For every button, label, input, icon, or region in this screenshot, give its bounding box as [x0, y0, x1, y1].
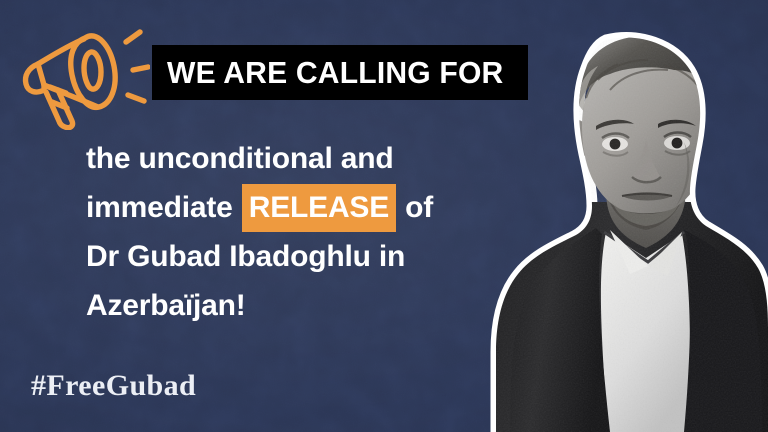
portrait-gubad-ibadoghlu [478, 22, 768, 432]
body-line-2-before: immediate [86, 191, 233, 224]
body-line-2: immediate RELEASE of [86, 183, 486, 232]
body-line-4-text: Azerbaïjan! [86, 289, 246, 322]
body-copy: the unconditional and immediate RELEASE … [86, 134, 486, 330]
portrait-photo [478, 22, 768, 432]
hashtag-free-gubad: #FreeGubad [31, 371, 196, 401]
release-highlight: RELEASE [242, 184, 396, 232]
body-line-1: the unconditional and [86, 134, 486, 183]
body-line-1-text: the unconditional and [86, 142, 393, 175]
body-line-2-after: of [405, 191, 433, 224]
body-line-3: Dr Gubad Ibadoghlu in [86, 232, 486, 281]
body-line-3-text: Dr Gubad Ibadoghlu in [86, 240, 405, 273]
megaphone-icon [14, 20, 150, 130]
headline-banner: WE ARE CALLING FOR [152, 45, 528, 100]
body-line-4: Azerbaïjan! [86, 281, 486, 330]
campaign-poster: WE ARE CALLING FOR the unconditional and… [0, 0, 768, 432]
headline-text: WE ARE CALLING FOR [167, 57, 503, 88]
